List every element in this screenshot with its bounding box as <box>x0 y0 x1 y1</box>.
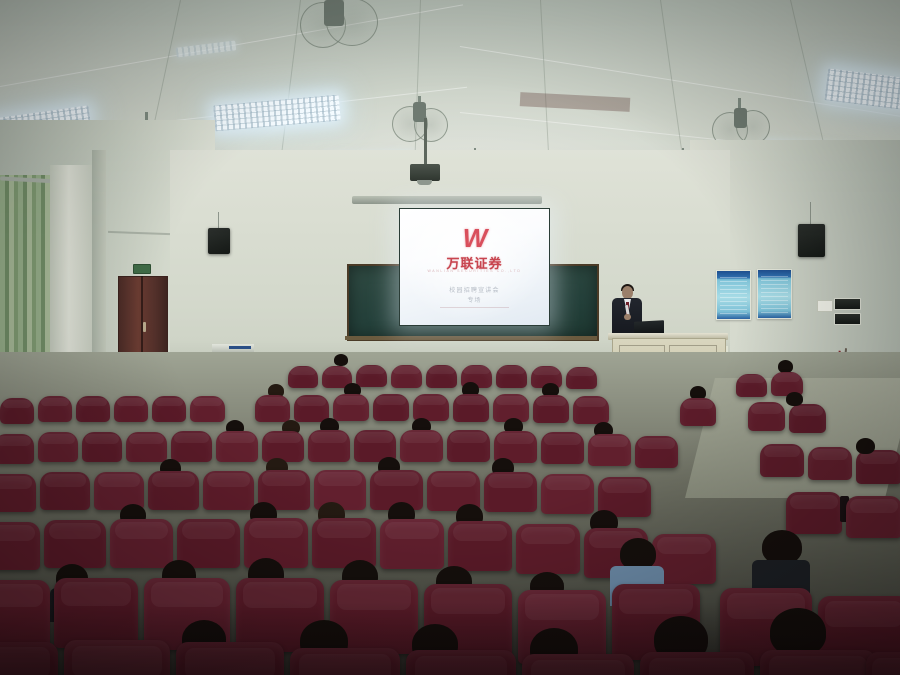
seat[interactable] <box>533 395 569 423</box>
company-name-pinyin: WANLIAN SECURITIES CO.,LTD <box>400 269 549 273</box>
seat[interactable] <box>413 394 449 421</box>
seat[interactable] <box>333 394 369 421</box>
seat[interactable] <box>786 492 842 534</box>
slide-subtitle-line2: 专场 <box>400 295 549 304</box>
poster-text-lines <box>720 277 747 316</box>
seat[interactable] <box>566 367 597 389</box>
seat[interactable] <box>846 496 900 538</box>
electrical-panel <box>834 313 861 325</box>
seat[interactable] <box>255 395 290 422</box>
slide-subtitle-line1: 校园招聘宣讲会 <box>400 285 549 294</box>
seat[interactable] <box>54 578 138 648</box>
seat[interactable] <box>447 430 490 462</box>
audience-head <box>786 392 803 406</box>
chalk-rail <box>345 336 597 340</box>
wall-poster <box>757 269 792 319</box>
seat[interactable] <box>541 432 584 464</box>
poster-text-lines <box>761 276 788 315</box>
seat[interactable] <box>110 519 173 568</box>
seat[interactable] <box>789 404 826 433</box>
seat[interactable] <box>541 474 594 514</box>
company-logo-w: W <box>400 225 549 251</box>
seat[interactable] <box>856 450 900 484</box>
speaker-cable <box>218 212 219 228</box>
slide-divider <box>440 307 509 308</box>
seat[interactable] <box>426 365 457 388</box>
seat[interactable] <box>356 365 387 387</box>
seat[interactable] <box>373 394 409 421</box>
seat[interactable] <box>0 398 34 424</box>
electrical-panel <box>834 298 861 310</box>
ceiling-projector <box>410 164 440 181</box>
seat[interactable] <box>484 472 537 512</box>
seat[interactable] <box>126 432 167 462</box>
seat[interactable] <box>216 431 258 462</box>
seat[interactable] <box>152 396 186 422</box>
seat[interactable] <box>588 434 631 466</box>
exit-sign <box>133 264 151 274</box>
projection-screen: W 万联证券 WANLIAN SECURITIES CO.,LTD 校园招聘宣讲… <box>399 208 550 326</box>
seat[interactable] <box>76 396 110 422</box>
seat[interactable] <box>516 524 580 574</box>
seat[interactable] <box>453 394 489 422</box>
seat[interactable] <box>0 580 50 648</box>
seat[interactable] <box>0 434 34 464</box>
audience-head <box>762 530 802 564</box>
door-handle-icon[interactable] <box>143 322 146 332</box>
audience-head <box>856 438 875 454</box>
seat[interactable] <box>40 472 90 510</box>
panel-label <box>817 300 833 312</box>
wall-poster <box>716 270 751 320</box>
seat[interactable] <box>176 642 284 675</box>
seat[interactable] <box>573 396 609 424</box>
seating-area <box>0 352 900 675</box>
seat[interactable] <box>64 640 170 675</box>
seat[interactable] <box>308 430 350 462</box>
lecture-hall-photo: 板书 W 万联证券 WANLIAN SECURITIES CO.,LTD 校园招… <box>0 0 900 675</box>
seat[interactable] <box>522 654 634 675</box>
seat[interactable] <box>736 374 767 397</box>
seat[interactable] <box>496 365 527 388</box>
seat[interactable] <box>400 430 443 462</box>
seat[interactable] <box>38 432 78 462</box>
seat[interactable] <box>0 474 36 512</box>
seat[interactable] <box>262 431 304 462</box>
speaker-cable <box>810 202 811 224</box>
seat[interactable] <box>635 436 678 468</box>
presenter-hand <box>624 314 631 320</box>
seat[interactable] <box>391 365 422 388</box>
seat[interactable] <box>0 522 40 570</box>
seat[interactable] <box>44 520 106 568</box>
seat[interactable] <box>760 650 876 675</box>
seat[interactable] <box>866 652 900 675</box>
wall-speaker <box>798 224 825 257</box>
av-device-stripe <box>229 346 251 349</box>
seat[interactable] <box>380 519 444 569</box>
seat[interactable] <box>640 652 754 675</box>
seat[interactable] <box>114 396 148 422</box>
seat[interactable] <box>748 402 785 431</box>
projector-lens <box>417 180 432 185</box>
seat[interactable] <box>203 471 254 510</box>
screen-housing <box>352 196 542 204</box>
seat[interactable] <box>290 648 400 675</box>
seat[interactable] <box>760 444 804 477</box>
seat[interactable] <box>148 471 199 510</box>
seat[interactable] <box>288 366 318 388</box>
seat[interactable] <box>808 447 852 480</box>
seat[interactable] <box>82 432 122 462</box>
audience-head <box>770 608 826 656</box>
wall-speaker <box>208 228 230 254</box>
audience-head <box>334 354 348 366</box>
seat[interactable] <box>294 395 329 422</box>
seat[interactable] <box>190 396 225 422</box>
seat[interactable] <box>171 431 212 462</box>
seat[interactable] <box>0 642 58 675</box>
seat[interactable] <box>38 396 72 422</box>
seat[interactable] <box>406 650 516 675</box>
seat[interactable] <box>448 521 512 571</box>
seat[interactable] <box>680 398 716 426</box>
projector-mount-pole <box>424 118 427 166</box>
